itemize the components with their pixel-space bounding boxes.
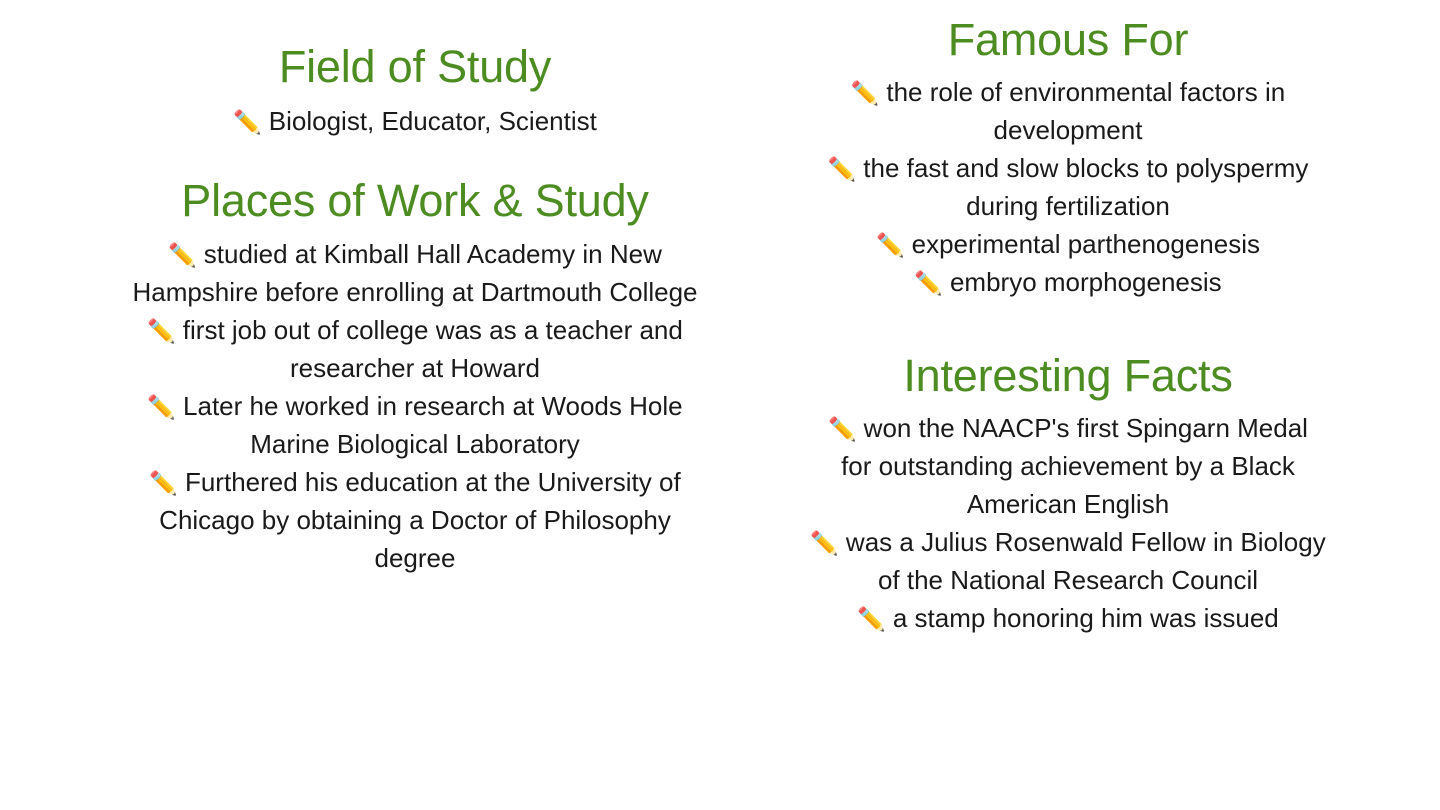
pencil-icon: ✏️: [828, 419, 857, 442]
list-item-text: won the NAACP's first Spingarn Medal for…: [841, 413, 1308, 519]
section-heading-places-of-work-and-study: Places of Work & Study: [117, 178, 713, 223]
list-item: ✏️Biologist, Educator, Scientist: [117, 102, 713, 140]
list-item-text: embryo morphogenesis: [950, 267, 1222, 297]
section-heading-famous-for: Famous For: [810, 17, 1326, 62]
left-column: Field of Study ✏️Biologist, Educator, Sc…: [117, 0, 713, 577]
section-heading-interesting-facts: Interesting Facts: [810, 353, 1326, 398]
pencil-icon: ✏️: [857, 609, 886, 632]
section-field-of-study: Field of Study ✏️Biologist, Educator, Sc…: [117, 44, 713, 140]
section-famous-for: Famous For ✏️the role of environmental f…: [810, 17, 1326, 301]
bullet-list-famous-for: ✏️the role of environmental factors in d…: [810, 73, 1326, 301]
list-item-text: Later he worked in research at Woods Hol…: [183, 391, 683, 459]
pencil-icon: ✏️: [147, 321, 176, 344]
pencil-icon: ✏️: [828, 159, 857, 182]
list-item: ✏️won the NAACP's first Spingarn Medal f…: [810, 409, 1326, 523]
slide-canvas: Field of Study ✏️Biologist, Educator, Sc…: [0, 0, 1440, 810]
pencil-icon: ✏️: [149, 473, 178, 496]
list-item-text: Biologist, Educator, Scientist: [269, 106, 597, 136]
bullet-list-interesting-facts: ✏️won the NAACP's first Spingarn Medal f…: [810, 409, 1326, 637]
list-item: ✏️studied at Kimball Hall Academy in New…: [117, 235, 713, 311]
pencil-icon: ✏️: [914, 273, 943, 296]
list-item-text: the fast and slow blocks to polyspermy d…: [863, 153, 1308, 221]
list-item: ✏️a stamp honoring him was issued: [810, 599, 1326, 637]
list-item-text: the role of environmental factors in dev…: [886, 77, 1285, 145]
list-item: ✏️the role of environmental factors in d…: [810, 73, 1326, 149]
list-item-text: was a Julius Rosenwald Fellow in Biology…: [846, 527, 1326, 595]
section-interesting-facts: Interesting Facts ✏️won the NAACP's firs…: [810, 353, 1326, 637]
list-item: ✏️the fast and slow blocks to polyspermy…: [810, 149, 1326, 225]
pencil-icon: ✏️: [147, 397, 176, 420]
list-item: ✏️Later he worked in research at Woods H…: [117, 387, 713, 463]
pencil-icon: ✏️: [851, 83, 880, 106]
list-item-text: studied at Kimball Hall Academy in New H…: [132, 239, 697, 307]
pencil-icon: ✏️: [876, 235, 905, 258]
bullet-list-field-of-study: ✏️Biologist, Educator, Scientist: [117, 102, 713, 140]
pencil-icon: ✏️: [168, 245, 197, 268]
pencil-icon: ✏️: [233, 112, 262, 135]
pencil-icon: ✏️: [810, 533, 839, 556]
list-item: ✏️was a Julius Rosenwald Fellow in Biolo…: [810, 523, 1326, 599]
list-item-text: experimental parthenogenesis: [912, 229, 1260, 259]
section-places-of-work-and-study: Places of Work & Study ✏️studied at Kimb…: [117, 178, 713, 577]
list-item: ✏️experimental parthenogenesis: [810, 225, 1326, 263]
list-item: ✏️first job out of college was as a teac…: [117, 311, 713, 387]
section-heading-field-of-study: Field of Study: [117, 44, 713, 89]
list-item: ✏️Furthered his education at the Univers…: [117, 463, 713, 577]
list-item-text: Furthered his education at the Universit…: [159, 467, 681, 573]
list-item-text: first job out of college was as a teache…: [183, 315, 683, 383]
right-column: Famous For ✏️the role of environmental f…: [810, 0, 1326, 637]
list-item: ✏️embryo morphogenesis: [810, 263, 1326, 301]
bullet-list-places-of-work-and-study: ✏️studied at Kimball Hall Academy in New…: [117, 235, 713, 577]
list-item-text: a stamp honoring him was issued: [893, 603, 1279, 633]
